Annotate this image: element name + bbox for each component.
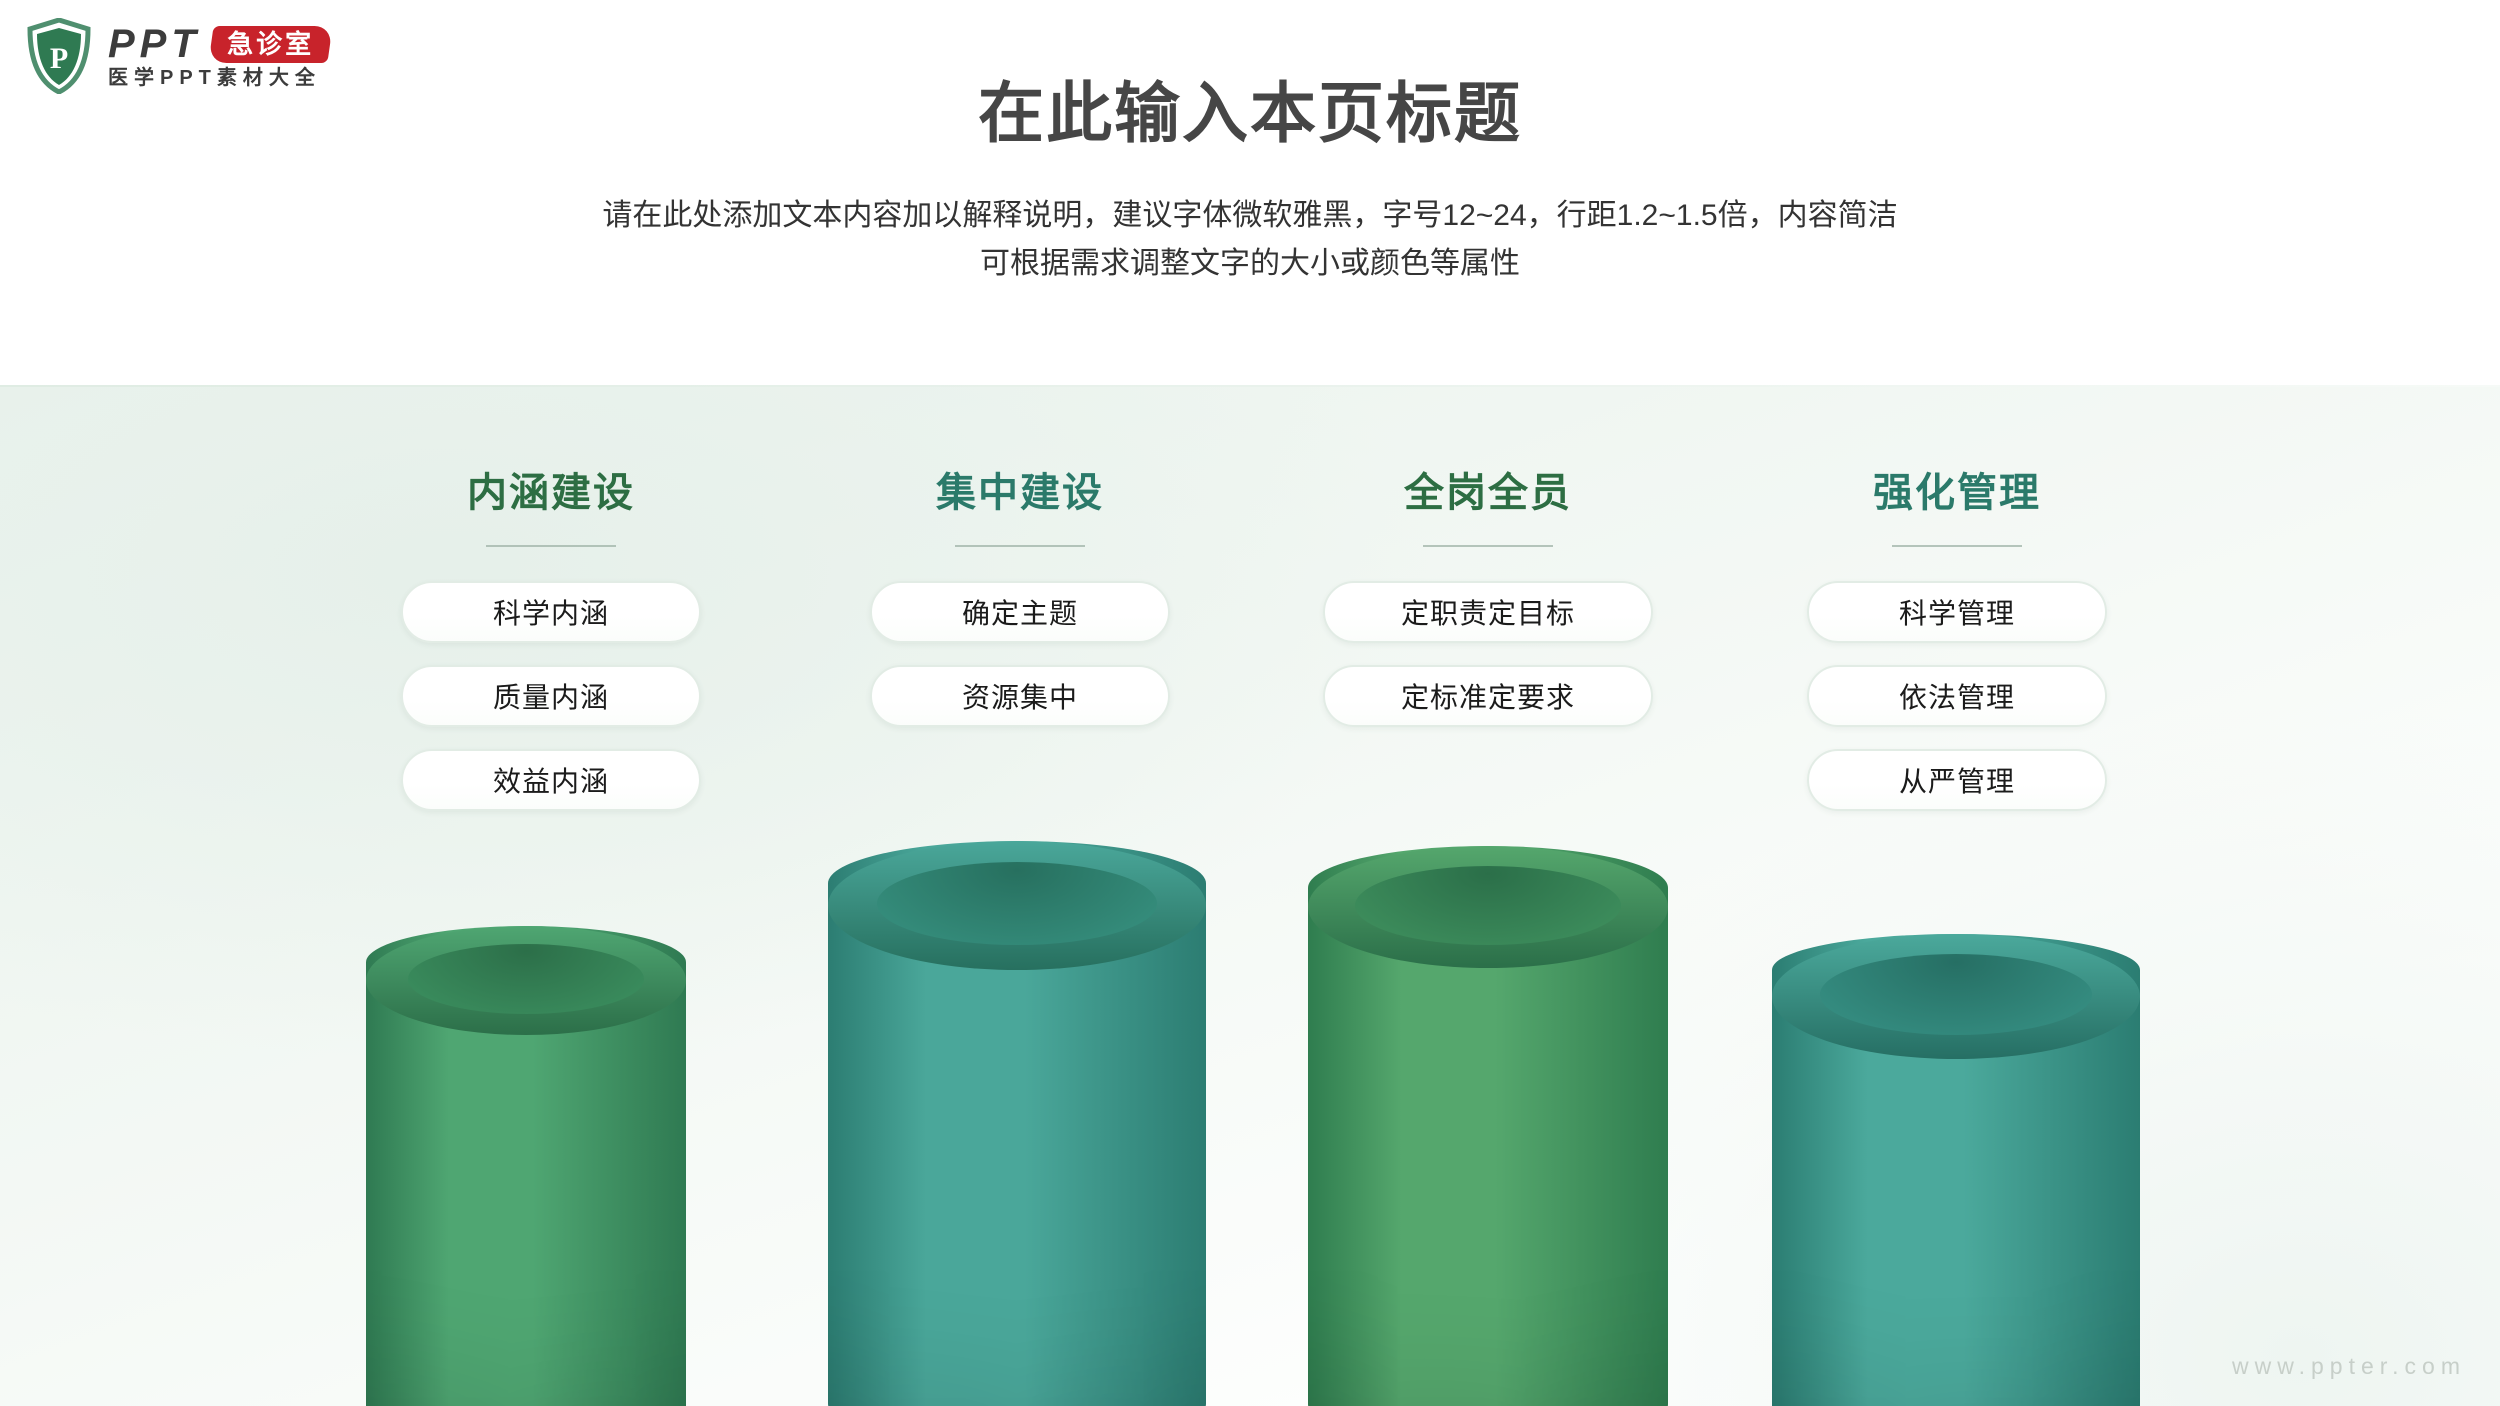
list-item[interactable]: 科学内涵 xyxy=(401,581,701,643)
column-1: 内涵建设 科学内涵 质量内涵 效益内涵 xyxy=(316,385,786,811)
column-2-pill-list: 确定主题 资源集中 xyxy=(785,581,1255,727)
column-1-rule xyxy=(486,545,616,547)
column-4-heading: 强化管理 xyxy=(1722,473,2192,513)
column-3-pill-list: 定职责定目标 定标准定要求 xyxy=(1253,581,1723,727)
column-2: 集中建设 确定主题 资源集中 xyxy=(785,385,1255,727)
column-4-pill-list: 科学管理 依法管理 从严管理 xyxy=(1722,581,2192,811)
page-subtitle: 请在此处添加文本内容加以解释说明，建议字体微软雅黑，字号12~24，行距1.2~… xyxy=(0,192,2500,288)
column-group: 内涵建设 科学内涵 质量内涵 效益内涵 集中建设 确定主题 资源集中 全岗全员 … xyxy=(0,385,2500,1406)
list-item[interactable]: 科学管理 xyxy=(1807,581,2107,643)
column-4-rule xyxy=(1892,545,2022,547)
list-item[interactable]: 定职责定目标 xyxy=(1323,581,1653,643)
list-item[interactable]: 质量内涵 xyxy=(401,665,701,727)
logo-primary-row: PPT 急诊室 xyxy=(108,24,330,64)
column-3: 全岗全员 定职责定目标 定标准定要求 xyxy=(1253,385,1723,727)
list-item[interactable]: 效益内涵 xyxy=(401,749,701,811)
page-subtitle-line-2: 可根据需求调整文字的大小或颜色等属性 xyxy=(0,240,2500,288)
column-2-heading: 集中建设 xyxy=(785,473,1255,513)
page-title: 在此输入本页标题 xyxy=(0,60,2500,156)
logo-badge: 急诊室 xyxy=(208,26,332,63)
slide-canvas: P PPT 急诊室 医学PPT素材大全 在此输入本页标题 请在此处添加文本内容加… xyxy=(0,0,2500,1406)
column-1-heading: 内涵建设 xyxy=(316,473,786,513)
column-3-rule xyxy=(1423,545,1553,547)
column-3-heading: 全岗全员 xyxy=(1253,473,1723,513)
list-item[interactable]: 资源集中 xyxy=(870,665,1170,727)
logo-badge-label: 急诊室 xyxy=(227,31,314,57)
list-item[interactable]: 依法管理 xyxy=(1807,665,2107,727)
page-subtitle-line-1: 请在此处添加文本内容加以解释说明，建议字体微软雅黑，字号12~24，行距1.2~… xyxy=(0,192,2500,240)
column-1-pill-list: 科学内涵 质量内涵 效益内涵 xyxy=(316,581,786,811)
list-item[interactable]: 确定主题 xyxy=(870,581,1170,643)
column-2-rule xyxy=(955,545,1085,547)
column-4: 强化管理 科学管理 依法管理 从严管理 xyxy=(1722,385,2192,811)
list-item[interactable]: 定标准定要求 xyxy=(1323,665,1653,727)
logo-brand: PPT xyxy=(108,24,201,64)
watermark: www.ppter.com xyxy=(2232,1353,2466,1380)
list-item[interactable]: 从严管理 xyxy=(1807,749,2107,811)
